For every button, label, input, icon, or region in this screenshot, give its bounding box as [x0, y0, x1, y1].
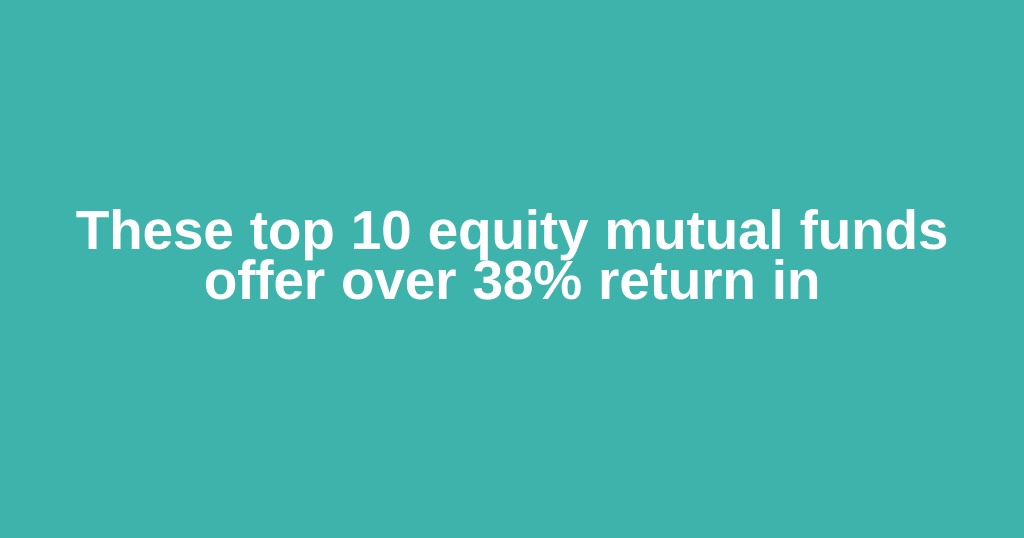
headline-block: These top 10 equity mutual funds offer o… — [62, 205, 962, 305]
share-card: These top 10 equity mutual funds offer o… — [0, 0, 1024, 538]
headline: These top 10 equity mutual funds offer o… — [62, 205, 962, 305]
